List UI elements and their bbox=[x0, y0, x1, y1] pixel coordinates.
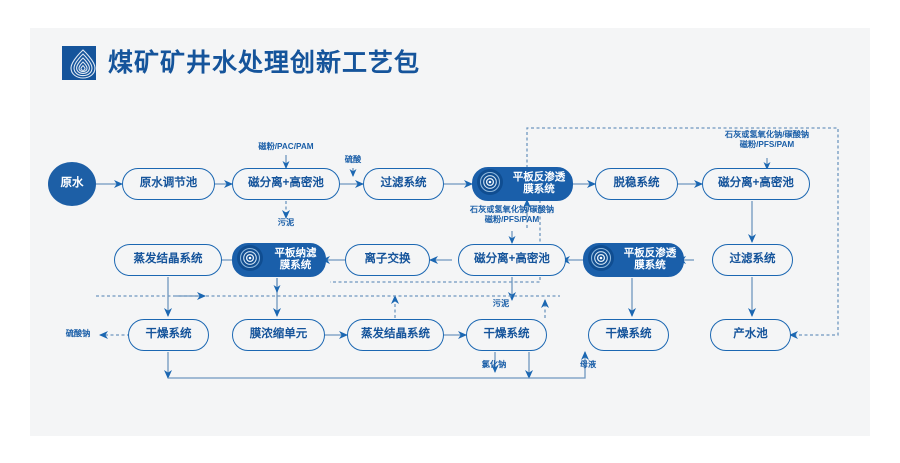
node-label: 平板反渗透 膜系统 bbox=[506, 172, 572, 196]
node-ion-exchange[interactable]: 离子交换 bbox=[345, 244, 430, 276]
node-flat-sheet-ro-membrane-system-1[interactable]: 平板反渗透 膜系统 bbox=[472, 167, 573, 201]
water-drop-ripple-icon bbox=[62, 46, 96, 80]
node-magnetic-separation-high-density-tank-1[interactable]: 磁分离+高密池 bbox=[232, 168, 340, 200]
annotation-dosing-1: 磁粉/PAC/PAM bbox=[236, 142, 336, 152]
node-membrane-concentration-unit[interactable]: 膜浓缩单元 bbox=[232, 319, 325, 351]
node-drying-system-2[interactable]: 干燥系统 bbox=[466, 319, 547, 351]
node-raw-water[interactable]: 原水 bbox=[48, 162, 96, 206]
annotation-dosing-2: 石灰或氢氧化钠/碳酸钠 磁粉/PFS/PAM bbox=[700, 130, 834, 151]
node-evaporation-crystallization-system-2[interactable]: 蒸发结晶系统 bbox=[347, 319, 444, 351]
node-evaporation-crystallization-system-1[interactable]: 蒸发结晶系统 bbox=[114, 244, 222, 276]
node-raw-water-regulation-tank[interactable]: 原水调节池 bbox=[122, 168, 215, 200]
membrane-disc-icon bbox=[587, 244, 615, 276]
node-product-water-tank[interactable]: 产水池 bbox=[710, 319, 791, 351]
node-magnetic-separation-high-density-tank-3[interactable]: 磁分离+高密池 bbox=[458, 244, 566, 276]
node-filtration-system-1[interactable]: 过滤系统 bbox=[363, 168, 444, 200]
node-label: 平板反渗透 膜系统 bbox=[617, 248, 683, 272]
node-label: 平板纳滤 膜系统 bbox=[266, 248, 325, 272]
annotation-sludge-2: 污泥 bbox=[481, 299, 521, 309]
membrane-disc-icon bbox=[476, 168, 504, 200]
node-flat-sheet-ro-membrane-system-2[interactable]: 平板反渗透 膜系统 bbox=[583, 243, 684, 277]
node-magnetic-separation-high-density-tank-2[interactable]: 磁分离+高密池 bbox=[702, 168, 810, 200]
node-destabilization-system[interactable]: 脱稳系统 bbox=[595, 168, 678, 200]
diagram-panel bbox=[30, 28, 870, 436]
annotation-dosing-3: 石灰或氢氧化钠/碳酸钠 磁粉/PFS/PAM bbox=[445, 205, 579, 226]
annotation-sludge-1: 污泥 bbox=[266, 218, 306, 228]
node-flat-sheet-nf-membrane-system[interactable]: 平板纳滤 膜系统 bbox=[232, 243, 326, 277]
node-filtration-system-2[interactable]: 过滤系统 bbox=[712, 244, 793, 276]
flowchart-page: 煤矿矿井水处理创新工艺包 bbox=[0, 0, 900, 463]
annotation-mother-liquor: 母液 bbox=[568, 360, 608, 370]
node-drying-system-1[interactable]: 干燥系统 bbox=[128, 319, 209, 351]
node-drying-system-3[interactable]: 干燥系统 bbox=[588, 319, 669, 351]
annotation-sodium-sulfate: 硫酸钠 bbox=[57, 329, 99, 339]
annotation-sodium-chloride: 氯化钠 bbox=[472, 360, 516, 370]
annotation-dosing-acid: 硫酸 bbox=[333, 155, 373, 165]
membrane-disc-icon bbox=[236, 244, 264, 276]
header: 煤矿矿井水处理创新工艺包 bbox=[62, 46, 420, 80]
page-title: 煤矿矿井水处理创新工艺包 bbox=[108, 51, 420, 76]
